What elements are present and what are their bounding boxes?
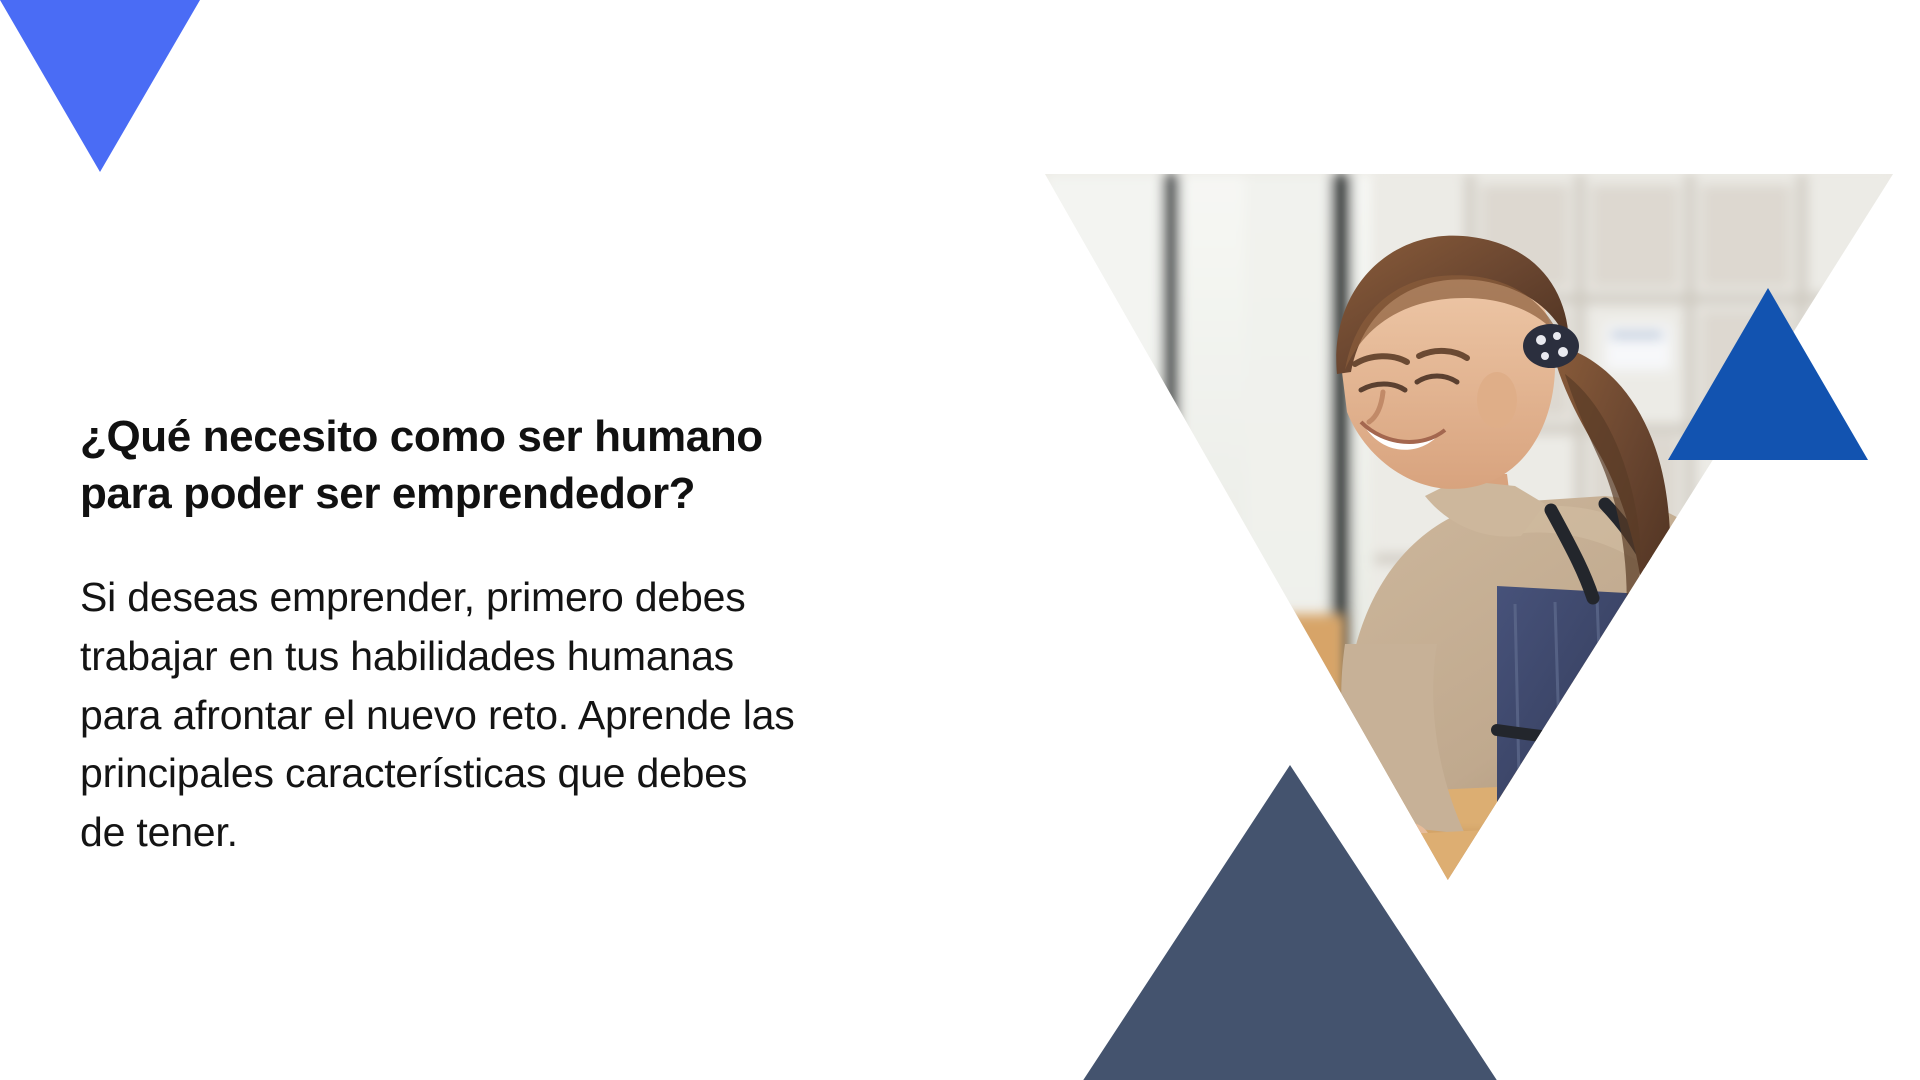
body-paragraph: Si deseas emprender, primero debes traba… bbox=[80, 568, 1080, 861]
box-label-upper: B bbox=[1695, 726, 1739, 770]
box-label-text: B bbox=[1708, 736, 1725, 763]
box-label-lower: B bbox=[1715, 850, 1755, 880]
box-label-text-lower: B bbox=[1727, 858, 1743, 880]
page-title: ¿Qué necesito como ser humano para poder… bbox=[80, 408, 920, 522]
slide-canvas: B B bbox=[0, 0, 1920, 1080]
triangle-right-blue-icon bbox=[1668, 288, 1868, 460]
triangle-top-left-icon bbox=[0, 0, 200, 172]
triangle-bottom-slate-icon bbox=[1080, 765, 1500, 1080]
text-column: ¿Qué necesito como ser humano para poder… bbox=[80, 408, 1080, 862]
